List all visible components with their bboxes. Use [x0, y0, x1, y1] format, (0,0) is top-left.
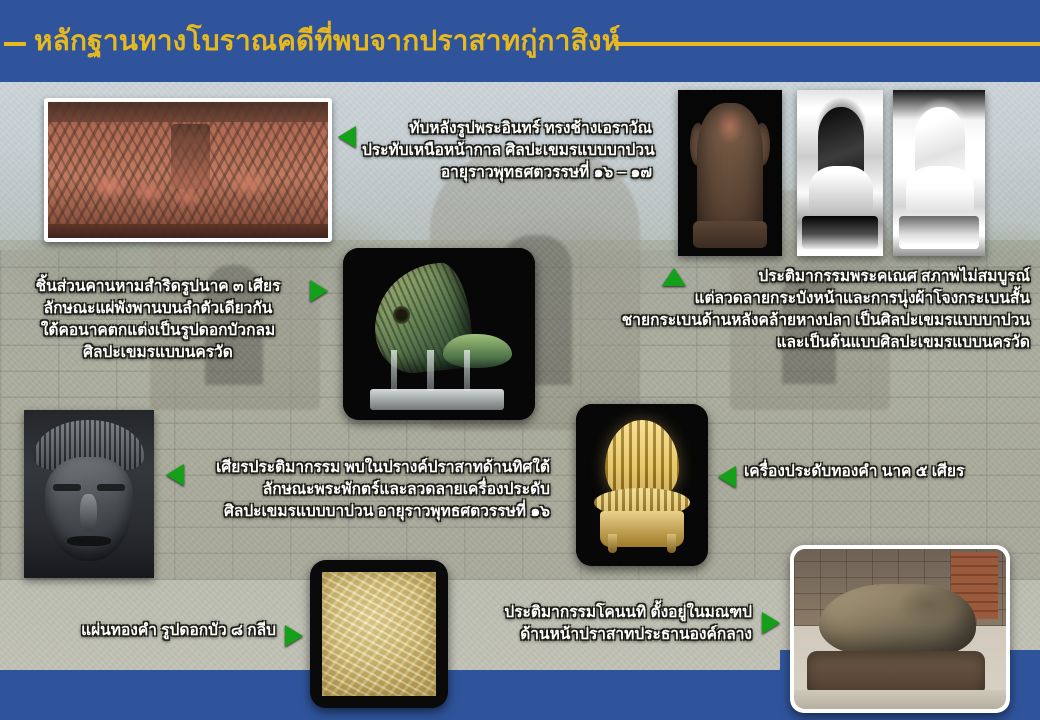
lintel-bottom-band: [48, 224, 328, 238]
caption-ganesha-line-1: ประติมากรรมพระคเณศ สภาพไม่สมบูรณ์: [600, 266, 1030, 288]
photo-gold-sheet: [310, 560, 448, 708]
nandi-pedestal: [807, 651, 985, 693]
photo-card-gold-sheet[interactable]: [310, 560, 448, 708]
caption-ganesha-line-4: และเป็นต้นแบบศิลปะเขมรแบบนครวัด: [600, 332, 1030, 354]
stone-head-art: [24, 410, 154, 578]
caption-gold-naga: เครื่องประดับทองคำ นาค ๕ เศียร: [744, 461, 1004, 483]
triangle-right-icon-gold-sheet: [285, 625, 303, 647]
ganesha-bw-art-1: [797, 90, 883, 256]
triangle-left-icon-lintel: [338, 126, 356, 148]
naga-stand-post-1: [391, 350, 397, 391]
ganesha-bw-2-body: [906, 166, 974, 212]
nandi-ground: [794, 690, 1006, 709]
caption-stone-head: เศียรประติมากรรม พบในปรางค์ปราสาทด้านทิศ…: [190, 457, 550, 523]
photo-card-ganesha-bw-2[interactable]: [893, 90, 985, 256]
ganesha-base: [693, 221, 768, 248]
triangle-right-icon-nandi: [762, 612, 780, 634]
naga-eye: [393, 306, 410, 323]
stone-head-brow-right: [97, 484, 126, 491]
caption-gold-sheet-line-1: แผ่นทองคำ รูปดอกบัว ๘ กลีบ: [20, 620, 276, 642]
photo-card-gold-naga[interactable]: [576, 404, 708, 566]
photo-ganesha-color: [678, 90, 782, 256]
lintel-top-band: [48, 102, 328, 122]
gold-foil-art: [322, 572, 436, 696]
caption-naga-beam-line-1: ชิ้นส่วนคานหามสำริดรูปนาค ๓ เศียร: [14, 276, 302, 298]
lintel-relief-art: [48, 102, 328, 238]
naga-acrylic-stand: [370, 389, 504, 410]
photo-card-naga-finial[interactable]: [343, 248, 535, 420]
photo-naga-finial: [343, 248, 535, 420]
photo-ganesha-bw-1: [797, 90, 883, 256]
naga-neck: [443, 334, 512, 368]
stone-head-mouth: [67, 536, 111, 546]
caption-naga-beam-line-4: ศิลปะเขมรแบบนครวัด: [14, 342, 302, 364]
caption-stone-head-line-2: ลักษณะพระพักตร์และลวดลายเครื่องประดับ: [190, 479, 550, 501]
caption-ganesha-line-2: แต่ลวดลายกระบังหน้าและการนุ่งผ้าโจงกระเบ…: [600, 288, 1030, 310]
naga-finial-art: [343, 248, 535, 420]
caption-nandi: ประติมากรรมโคนนทิ ตั้งอยู่ในมณฑป ด้านหน้…: [480, 602, 752, 646]
nandi-bull-body: [819, 584, 976, 654]
caption-lintel-line-1: ทับหลังรูปพระอินทร์ ทรงช้างเอราวัณ: [362, 118, 652, 140]
caption-ganesha: ประติมากรรมพระคเณศ สภาพไม่สมบูรณ์ แต่ลวด…: [600, 266, 1030, 354]
caption-naga-beam-line-2: ลักษณะแผ่พังพานบนลำตัวเดียวกัน: [14, 298, 302, 320]
naga-stand-post-3: [464, 350, 470, 391]
photo-card-stone-head[interactable]: [24, 410, 154, 578]
photo-card-nandi[interactable]: [790, 545, 1010, 713]
caption-naga-beam: ชิ้นส่วนคานหามสำริดรูปนาค ๓ เศียร ลักษณะ…: [14, 276, 302, 364]
header-rule-right: [614, 42, 1040, 46]
photo-card-ganesha-color[interactable]: [678, 90, 782, 256]
photo-nandi: [794, 549, 1006, 709]
caption-nandi-line-2: ด้านหน้าปราสาทประธานองค์กลาง: [480, 624, 752, 646]
stone-head-brow-left: [53, 484, 82, 491]
gold-naga-leg-right: [667, 534, 676, 553]
gold-naga-hood-fan: [605, 420, 679, 498]
photo-card-lintel[interactable]: [44, 98, 332, 242]
caption-nandi-line-1: ประติมากรรมโคนนทิ ตั้งอยู่ในมณฑป: [480, 602, 752, 624]
ganesha-bw-2-plinth: [899, 216, 980, 249]
caption-lintel: ทับหลังรูปพระอินทร์ ทรงช้างเอราวัณ ประทั…: [362, 118, 652, 184]
gold-naga-art: [576, 404, 708, 566]
triangle-right-icon-naga-beam: [310, 280, 328, 302]
photo-ganesha-bw-2: [893, 90, 985, 256]
naga-stand-post-2: [427, 350, 433, 391]
caption-lintel-line-2: ประทับเหนือหน้ากาล ศิลปะเขมรแบบบาปวน: [362, 140, 652, 162]
caption-gold-naga-line-1: เครื่องประดับทองคำ นาค ๕ เศียร: [744, 461, 1004, 483]
header-rule-left: [4, 42, 26, 46]
caption-ganesha-line-3: ชายกระเบนด้านหลังคล้ายหางปลา เป็นศิลปะเข…: [600, 310, 1030, 332]
page-title: หลักฐานทางโบราณคดีที่พบจากปราสาทกู่กาสิง…: [34, 18, 620, 64]
infographic-poster: หลักฐานทางโบราณคดีที่พบจากปราสาทกู่กาสิง…: [0, 0, 1040, 720]
ganesha-bw-1-plinth: [802, 216, 878, 249]
gold-naga-leg-left: [608, 534, 617, 553]
lintel-center-motif: [171, 124, 210, 189]
photo-lintel: [48, 102, 328, 238]
ganesha-color-art: [678, 90, 782, 256]
photo-card-ganesha-bw-1[interactable]: [797, 90, 883, 256]
header-bar: หลักฐานทางโบราณคดีที่พบจากปราสาทกู่กาสิง…: [0, 0, 1040, 82]
caption-stone-head-line-3: ศิลปะเขมรแบบบาปวน อายุราวพุทธศตวรรษที่ ๑…: [190, 501, 550, 523]
caption-lintel-line-3: อายุราวพุทธศตวรรษที่ ๑๖ – ๑๗: [362, 162, 652, 184]
triangle-left-icon-gold-naga: [718, 466, 736, 488]
ganesha-bw-art-2: [893, 90, 985, 256]
triangle-left-icon-stone-head: [166, 464, 184, 486]
caption-stone-head-line-1: เศียรประติมากรรม พบในปรางค์ปราสาทด้านทิศ…: [190, 457, 550, 479]
caption-gold-sheet: แผ่นทองคำ รูปดอกบัว ๘ กลีบ: [20, 620, 276, 642]
nandi-bull-art: [794, 549, 1006, 709]
caption-naga-beam-line-3: ใต้คอนาคตกแต่งเป็นรูปดอกบัวกลม: [14, 320, 302, 342]
stone-head-nose: [80, 494, 97, 531]
ganesha-bw-1-body: [809, 166, 873, 212]
photo-gold-naga: [576, 404, 708, 566]
photo-stone-head: [24, 410, 154, 578]
